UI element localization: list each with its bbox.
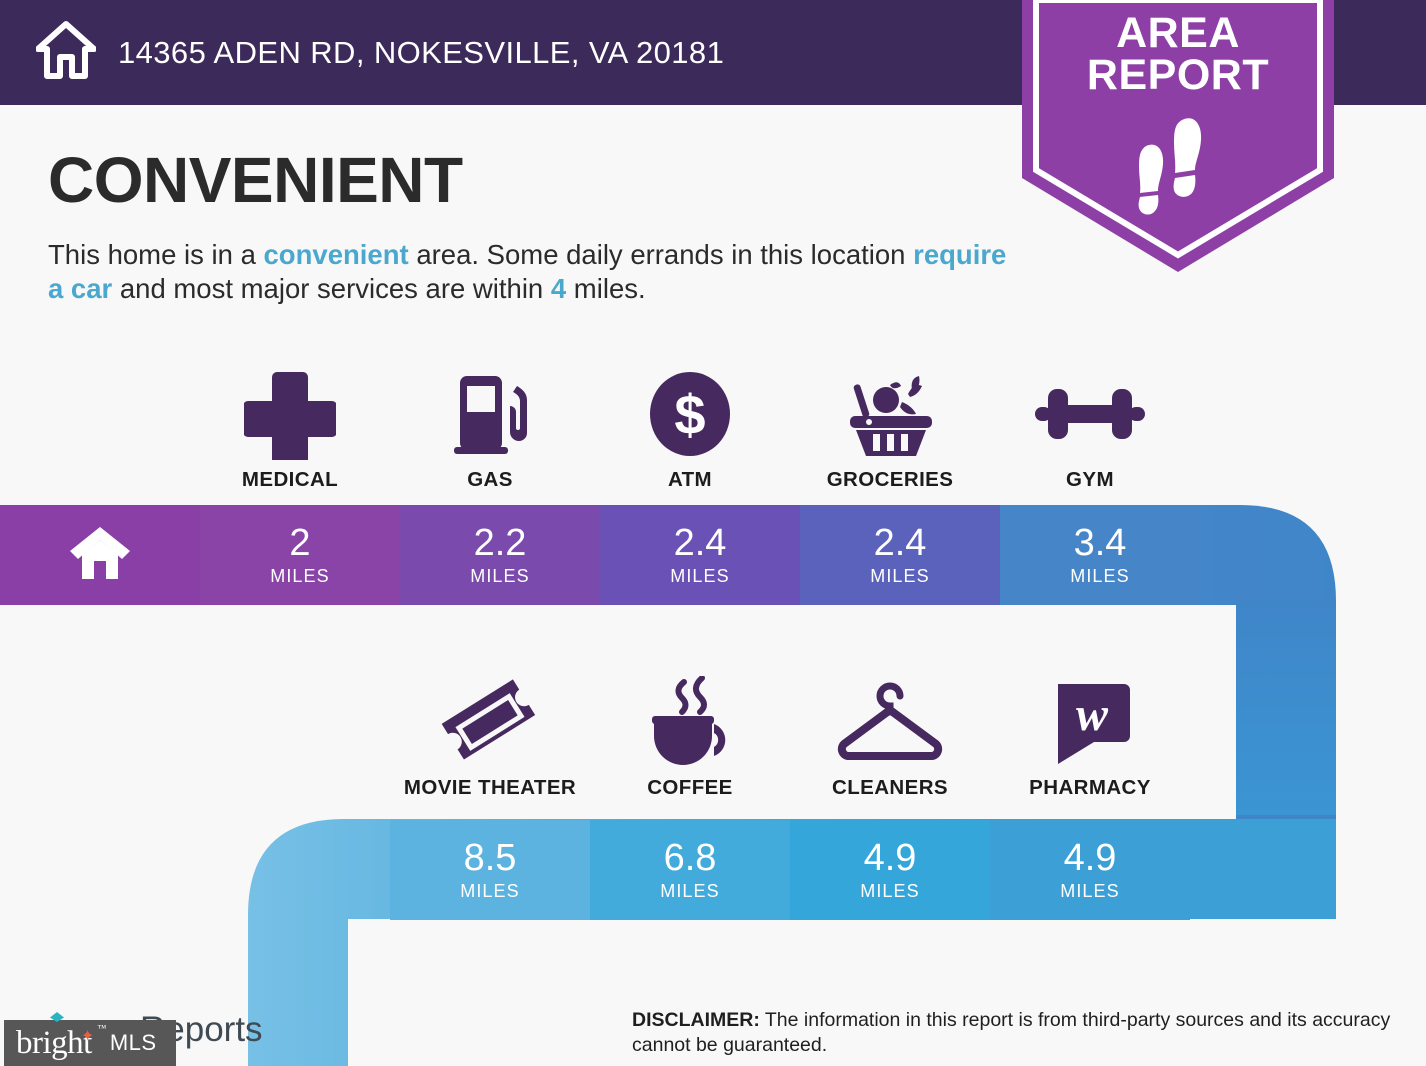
distance-row-primary: 2 MILES 2.2 MILES 2.4 MILES 2.4 MILES 3.… <box>0 505 1200 605</box>
distance-value-pharmacy: 4.9 <box>1064 839 1117 877</box>
logo-mls-label: MLS <box>110 1030 157 1056</box>
distance-unit-atm: MILES <box>670 566 730 587</box>
icon-label-atm: ATM <box>668 468 712 492</box>
distance-segment-cleaners: 4.9 MILES <box>790 820 990 920</box>
dumbbell-icon <box>1035 366 1145 462</box>
distance-segment-movie-theater: 8.5 MILES <box>390 820 590 920</box>
distance-segment-atm: 2.4 MILES <box>600 505 800 605</box>
distance-row-secondary: 8.5 MILES 6.8 MILES 4.9 MILES 4.9 MILES <box>390 820 1190 920</box>
summary-part-2: area. Some daily errands in this locatio… <box>409 239 913 270</box>
distance-value-atm: 2.4 <box>674 524 727 562</box>
area-report-page: 14365 ADEN RD, NOKESVILLE, VA 20181 AREA… <box>0 0 1426 1066</box>
distance-segment-gas: 2.2 MILES <box>400 505 600 605</box>
distance-segment-groceries: 2.4 MILES <box>800 505 1000 605</box>
distance-unit-movie-theater: MILES <box>460 881 520 902</box>
disclaimer: DISCLAIMER: The information in this repo… <box>632 1008 1392 1058</box>
summary-part-4: miles. <box>566 273 645 304</box>
distance-segment-pharmacy: 4.9 MILES <box>990 820 1190 920</box>
icon-label-medical: MEDICAL <box>242 468 338 492</box>
distance-value-groceries: 2.4 <box>874 524 927 562</box>
icon-cell-gas: GAS <box>390 352 590 492</box>
logo-bright-text: bright ✦ ™ <box>16 1025 92 1062</box>
icon-cell-groceries: GROCERIES <box>790 352 990 492</box>
grocery-basket-icon <box>840 366 940 462</box>
distance-value-coffee: 6.8 <box>664 839 717 877</box>
icon-cell-gym: GYM <box>990 352 1190 492</box>
distance-value-movie-theater: 8.5 <box>464 839 517 877</box>
distance-segment-medical: 2 MILES <box>200 505 400 605</box>
distance-segment-gym: 3.4 MILES <box>1000 505 1200 605</box>
distance-unit-coffee: MILES <box>660 881 720 902</box>
distance-value-gas: 2.2 <box>474 524 527 562</box>
summary-part-3: and most major services are within <box>112 273 551 304</box>
property-address: 14365 ADEN RD, NOKESVILLE, VA 20181 <box>118 35 724 71</box>
summary-part-1: This home is in a <box>48 239 264 270</box>
svg-text:$: $ <box>674 383 705 446</box>
icon-row-primary: MEDICAL GAS $ ATM <box>0 352 1426 492</box>
logo-tm-mark: ™ <box>98 1023 106 1033</box>
summary-highlight-1: convenient <box>264 239 409 270</box>
distance-unit-medical: MILES <box>270 566 330 587</box>
dollar-coin-icon: $ <box>644 366 736 462</box>
distance-unit-groceries: MILES <box>870 566 930 587</box>
disclaimer-label: DISCLAIMER: <box>632 1009 760 1031</box>
medical-cross-icon <box>244 366 336 462</box>
distance-unit-cleaners: MILES <box>860 881 920 902</box>
icon-cell-medical: MEDICAL <box>190 352 390 492</box>
icon-cell-atm: $ ATM <box>590 352 790 492</box>
gas-pump-icon <box>444 366 536 462</box>
area-report-badge: AREA REPORT <box>1022 0 1334 272</box>
home-icon <box>36 21 96 84</box>
row1-home-marker <box>0 505 200 605</box>
icon-label-gym: GYM <box>1066 468 1114 492</box>
distance-value-gym: 3.4 <box>1074 524 1127 562</box>
distance-unit-gas: MILES <box>470 566 530 587</box>
distance-value-cleaners: 4.9 <box>864 839 917 877</box>
home-icon <box>68 525 132 586</box>
distance-unit-pharmacy: MILES <box>1060 881 1120 902</box>
icon-label-groceries: GROCERIES <box>827 468 954 492</box>
distance-segment-coffee: 6.8 MILES <box>590 820 790 920</box>
distance-unit-gym: MILES <box>1070 566 1130 587</box>
bright-mls-logo: bright ✦ ™ MLS <box>4 1020 176 1066</box>
page-title: CONVENIENT <box>48 148 463 212</box>
logo-star-icon: ✦ <box>81 1026 94 1046</box>
distance-value-medical: 2 <box>289 524 310 562</box>
summary-highlight-3: 4 <box>551 273 566 304</box>
summary-text: This home is in a convenient area. Some … <box>48 238 1008 306</box>
icon-label-gas: GAS <box>467 468 513 492</box>
